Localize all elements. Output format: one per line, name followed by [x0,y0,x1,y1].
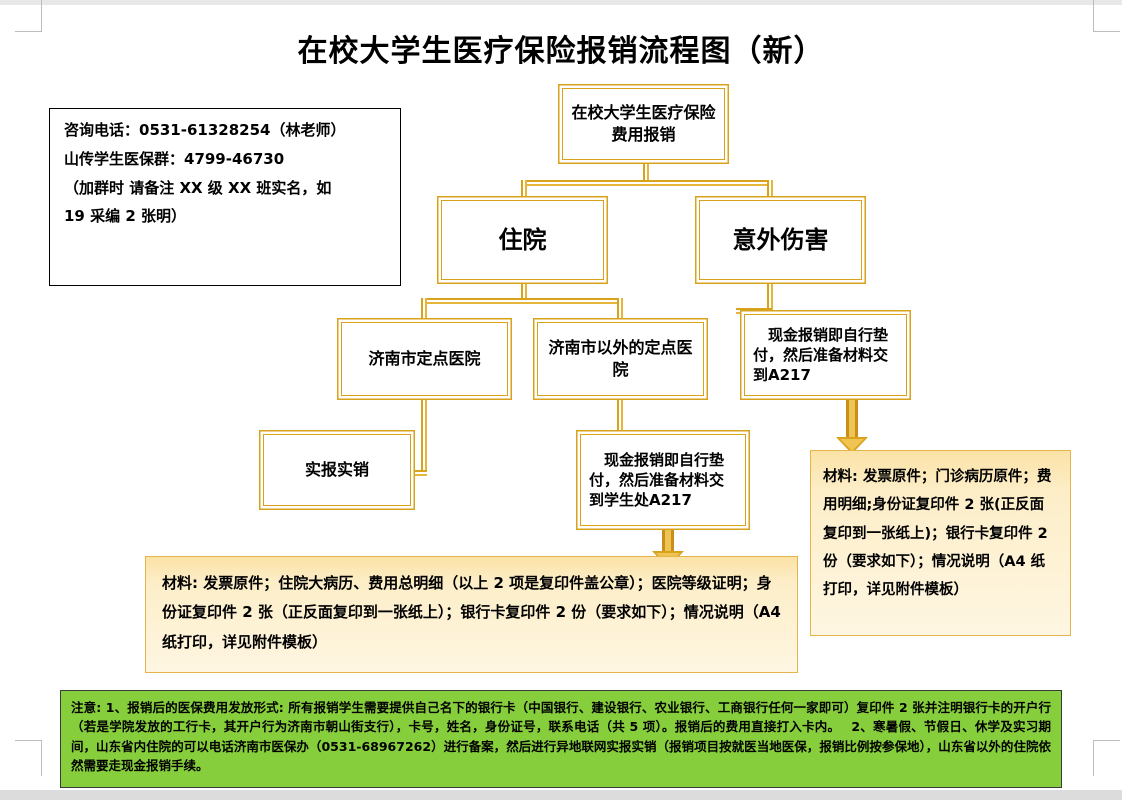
connector-to-jinan-hospital [421,298,427,322]
node-outside-jinan-hospital-label: 济南市以外的定点医院 [538,337,703,380]
contact-note-line-2: 19 采编 2 张明） [64,207,386,226]
materials-accident-text: 材料: 发票原件；门诊病历原件；费用明细;身份证复印件 2 张(正反面复印到一张… [823,469,1051,598]
page-title: 在校大学生医疗保险报销流程图（新） [0,26,1122,70]
node-branch-accident-label: 意外伤害 [725,224,837,256]
materials-hospital-text: 材料: 发票原件；住院大病历、费用总明细（以上 2 项是复印件盖公章）；医院等级… [162,574,781,651]
connector-jinan-down [421,396,427,476]
connector-to-outside-hospital [617,298,623,322]
contact-group-line: 山传学生医保群：4799-46730 [64,150,386,169]
node-branch-accident[interactable]: 意外伤害 [699,200,862,280]
node-jinan-hospital[interactable]: 济南市定点医院 [341,322,508,396]
node-direct-settlement[interactable]: 实报实销 [263,434,411,506]
connector-root-stem [643,160,649,182]
node-direct-settlement-label: 实报实销 [297,459,377,481]
connector-hospital-stem [521,280,527,300]
contact-phone-line: 咨询电话：0531-61328254（林老师） [64,121,386,140]
connector-root-split [521,180,773,186]
note-box: 注意: 1、报销后的医保费用发放形式: 所有报销学生需要提供自己名下的银行卡（中… [60,690,1062,788]
node-branch-hospital-label: 住院 [491,224,555,256]
node-outside-cash[interactable]: 现金报销即自行垫付，然后准备材料交到学生处A217 [580,434,746,526]
page-top-edge [0,0,1122,5]
node-outside-cash-label: 现金报销即自行垫付，然后准备材料交到学生处A217 [581,450,745,511]
contact-info-box: 咨询电话：0531-61328254（林老师） 山传学生医保群：4799-467… [49,108,401,286]
arrow-to-accident-materials [832,400,872,454]
node-accident-cash[interactable]: 现金报销即自行垫付，然后准备材料交到A217 [744,314,907,396]
node-root[interactable]: 在校大学生医疗保险费用报销 [562,88,725,160]
node-outside-jinan-hospital[interactable]: 济南市以外的定点医院 [537,322,704,396]
node-root-label: 在校大学生医疗保险费用报销 [563,102,724,145]
node-branch-hospital[interactable]: 住院 [441,200,604,280]
materials-accident-box: 材料: 发票原件；门诊病历原件；费用明细;身份证复印件 2 张(正反面复印到一张… [810,450,1071,636]
connector-hospital-split [421,298,623,304]
materials-hospital-box: 材料: 发票原件；住院大病历、费用总明细（以上 2 项是复印件盖公章）；医院等级… [145,556,798,673]
node-jinan-hospital-label: 济南市定点医院 [360,348,488,370]
flowchart-page: 在校大学生医疗保险报销流程图（新） 咨询电话：0531-61328254（林老师… [0,0,1122,800]
page-bottom-edge [0,790,1122,800]
node-accident-cash-label: 现金报销即自行垫付，然后准备材料交到A217 [745,325,906,386]
note-text: 注意: 1、报销后的医保费用发放形式: 所有报销学生需要提供自己名下的银行卡（中… [71,700,1051,773]
contact-note-line-1: （加群时 请备注 XX 级 XX 班实名，如 [64,179,386,198]
